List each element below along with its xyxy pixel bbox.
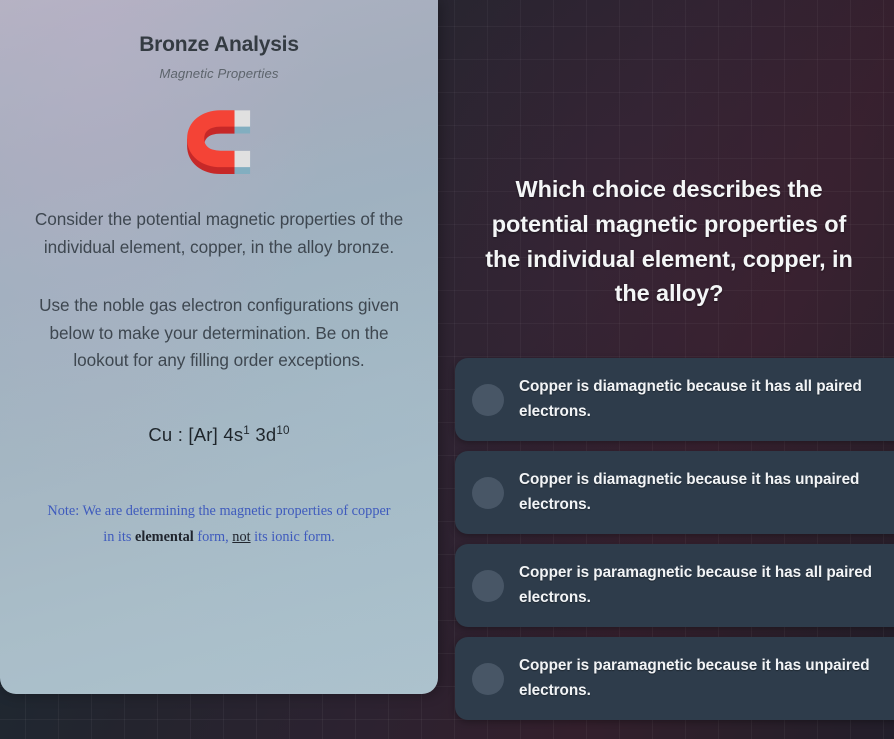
horseshoe-magnet-icon: 🧲 [18, 107, 420, 179]
answer-option-label: Copper is paramagnetic because it has al… [519, 561, 893, 611]
note-part-2: form, [194, 529, 233, 545]
config-separator: : [172, 424, 188, 445]
question-area: Which choice describes the potential mag… [440, 0, 894, 739]
note-text: Note: We are determining the magnetic pr… [18, 499, 420, 550]
prompt-paragraph-1: Consider the potential magnetic properti… [18, 206, 420, 262]
quiz-screen: Which choice describes the potential mag… [0, 0, 894, 739]
info-card: Bronze Analysis Magnetic Properties 🧲 Co… [0, 0, 438, 694]
electron-configuration: Cu : [Ar] 4s1 3d10 [18, 424, 420, 446]
answer-option-label: Copper is diamagnetic because it has unp… [519, 468, 893, 518]
note-part-3: its ionic form. [251, 529, 335, 545]
answer-option-a[interactable]: Copper is diamagnetic because it has all… [455, 358, 894, 441]
config-noble-core: [Ar] [188, 424, 218, 445]
config-orbital-1: 4s [223, 424, 243, 445]
question-prompt: Which choice describes the potential mag… [480, 172, 858, 311]
radio-button-icon[interactable] [472, 570, 504, 602]
config-element: Cu [148, 424, 172, 445]
card-subtitle: Magnetic Properties [18, 66, 420, 81]
answer-option-d[interactable]: Copper is paramagnetic because it has un… [455, 637, 894, 720]
note-emphasis-elemental: elemental [135, 529, 194, 545]
answer-option-label: Copper is diamagnetic because it has all… [519, 375, 893, 425]
radio-button-icon[interactable] [472, 477, 504, 509]
radio-button-icon[interactable] [472, 384, 504, 416]
config-orbital-2-exponent: 10 [276, 424, 289, 437]
card-title: Bronze Analysis [18, 33, 420, 57]
radio-button-icon[interactable] [472, 663, 504, 695]
answer-option-c[interactable]: Copper is paramagnetic because it has al… [455, 544, 894, 627]
answer-option-label: Copper is paramagnetic because it has un… [519, 654, 893, 704]
note-emphasis-not: not [232, 529, 250, 545]
answer-options-list: Copper is diamagnetic because it has all… [455, 358, 894, 720]
prompt-paragraph-2: Use the noble gas electron configuration… [18, 292, 420, 376]
answer-option-b[interactable]: Copper is diamagnetic because it has unp… [455, 451, 894, 534]
config-orbital-1-exponent: 1 [243, 424, 250, 437]
config-orbital-2: 3d [255, 424, 276, 445]
